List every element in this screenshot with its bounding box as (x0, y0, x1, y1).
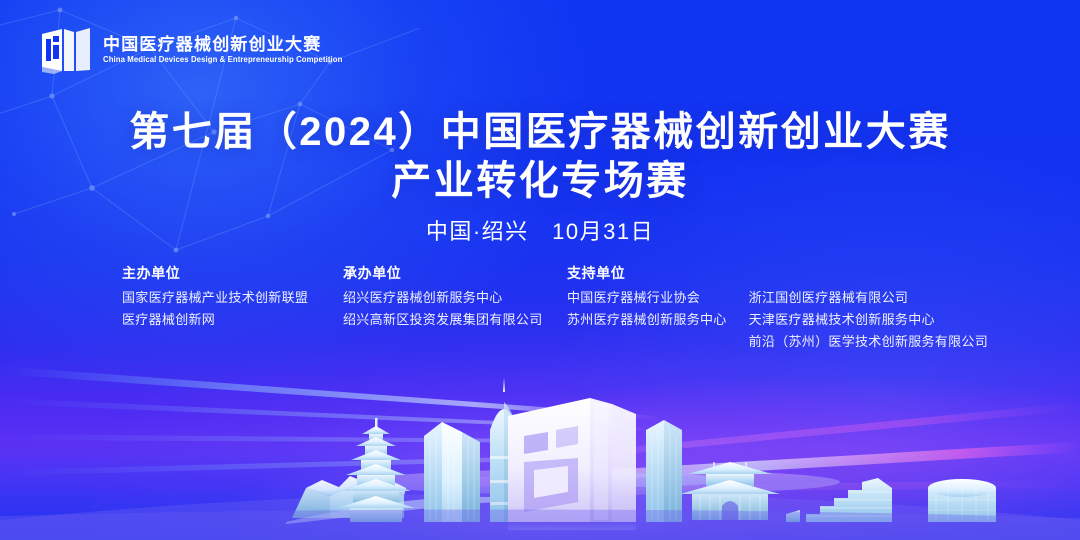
city-skyline-illustration (0, 370, 1080, 540)
organiser-item: 医疗器械创新网 (122, 313, 308, 326)
organiser-item: 绍兴医疗器械创新服务中心 (343, 291, 543, 304)
organiser-item: 苏州医疗器械创新服务中心 (567, 313, 727, 326)
organiser-item: 浙江国创医疗器械有限公司 (749, 291, 988, 304)
event-title-line1: 第七届（2024）中国医疗器械创新创业大赛 (0, 108, 1080, 157)
organiser-heading: 承办单位 (343, 266, 543, 280)
organiser-list: 绍兴医疗器械创新服务中心 绍兴高新区投资发展集团有限公司 (343, 291, 543, 326)
tall-tower (646, 420, 682, 522)
event-title-line2: 产业转化专场赛 (0, 157, 1080, 206)
pagoda-tower (337, 418, 415, 522)
organiser-group-supporters: 支持单位 中国医疗器械行业协会 苏州医疗器械创新服务中心 浙江国创医疗器械有限公… (567, 266, 988, 348)
brand-name-en: China Medical Devices Design & Entrepren… (103, 56, 342, 64)
organiser-item: 绍兴高新区投资发展集团有限公司 (343, 313, 543, 326)
organiser-list: 国家医疗器械产业技术创新联盟 医疗器械创新网 (122, 291, 308, 326)
organiser-item: 国家医疗器械产业技术创新联盟 (122, 291, 308, 304)
organiser-item: 中国医疗器械行业协会 (567, 291, 727, 304)
organiser-group-coorganiser: 承办单位 绍兴医疗器械创新服务中心 绍兴高新区投资发展集团有限公司 (343, 266, 543, 326)
organiser-item: 天津医疗器械技术创新服务中心 (749, 313, 988, 326)
organiser-group-host: 主办单位 国家医疗器械产业技术创新联盟 医疗器械创新网 (122, 266, 308, 326)
organiser-list-right: 浙江国创医疗器械有限公司 天津医疗器械技术创新服务中心 前沿（苏州）医学技术创新… (749, 291, 988, 348)
event-banner: 中国医疗器械创新创业大赛 China Medical Devices Desig… (0, 0, 1080, 540)
organiser-heading: 支持单位 (567, 266, 988, 280)
event-location-date: 中国·绍兴 10月31日 (0, 221, 1080, 243)
organiser-list-left: 中国医疗器械行业协会 苏州医疗器械创新服务中心 (567, 291, 727, 348)
organiser-item: 前沿（苏州）医学技术创新服务有限公司 (749, 335, 988, 348)
headline-block: 第七届（2024）中国医疗器械创新创业大赛 产业转化专场赛 中国·绍兴 10月3… (0, 108, 1080, 243)
organiser-heading: 主办单位 (122, 266, 308, 280)
brand-wordmark: 中国医疗器械创新创业大赛 China Medical Devices Desig… (103, 36, 350, 64)
brand-logo-lockup[interactable]: 中国医疗器械创新创业大赛 China Medical Devices Desig… (40, 26, 350, 74)
organiser-section: 主办单位 国家医疗器械产业技术创新联盟 医疗器械创新网 承办单位 绍兴医疗器械创… (0, 266, 1080, 366)
brand-name-cn: 中国医疗器械创新创业大赛 (103, 36, 350, 53)
glass-skyscraper (424, 422, 480, 522)
open-book-logo-icon (40, 26, 92, 74)
